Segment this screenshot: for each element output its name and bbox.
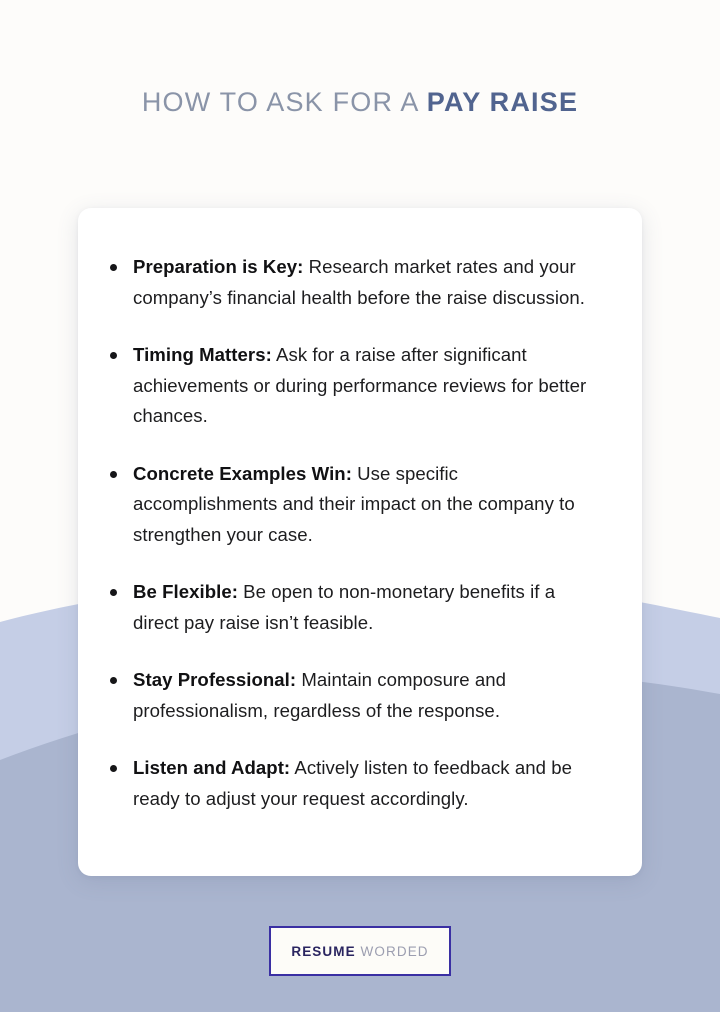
list-item: Timing Matters: Ask for a raise after si…	[108, 340, 604, 432]
bullet-dot-icon	[110, 352, 117, 359]
page-title-light: HOW TO ASK FOR A	[142, 87, 427, 117]
poster-page: HOW TO ASK FOR A PAY RAISE Preparation i…	[0, 0, 720, 1012]
page-title-bold: PAY RAISE	[427, 87, 578, 117]
bullet-dot-icon	[110, 264, 117, 271]
list-item-label: Listen and Adapt:	[133, 757, 290, 778]
list-item-label: Concrete Examples Win:	[133, 463, 352, 484]
bullet-dot-icon	[110, 677, 117, 684]
list-item-label: Preparation is Key:	[133, 256, 303, 277]
list-item: Preparation is Key: Research market rate…	[108, 252, 604, 313]
bullet-dot-icon	[110, 589, 117, 596]
bullet-dot-icon	[110, 765, 117, 772]
page-title: HOW TO ASK FOR A PAY RAISE	[0, 86, 720, 118]
bullet-dot-icon	[110, 471, 117, 478]
brand-name-secondary: WORDED	[356, 944, 429, 959]
list-item: Be Flexible: Be open to non-monetary ben…	[108, 577, 604, 638]
brand-badge[interactable]: RESUME WORDED	[269, 926, 451, 976]
brand-name-primary: RESUME	[291, 944, 355, 959]
list-item-label: Be Flexible:	[133, 581, 238, 602]
list-item-label: Stay Professional:	[133, 669, 296, 690]
tips-list: Preparation is Key: Research market rate…	[108, 252, 604, 814]
list-item-label: Timing Matters:	[133, 344, 272, 365]
list-item: Listen and Adapt: Actively listen to fee…	[108, 753, 604, 814]
tips-card: Preparation is Key: Research market rate…	[78, 208, 642, 876]
list-item: Stay Professional: Maintain composure an…	[108, 665, 604, 726]
list-item: Concrete Examples Win: Use specific acco…	[108, 459, 604, 551]
